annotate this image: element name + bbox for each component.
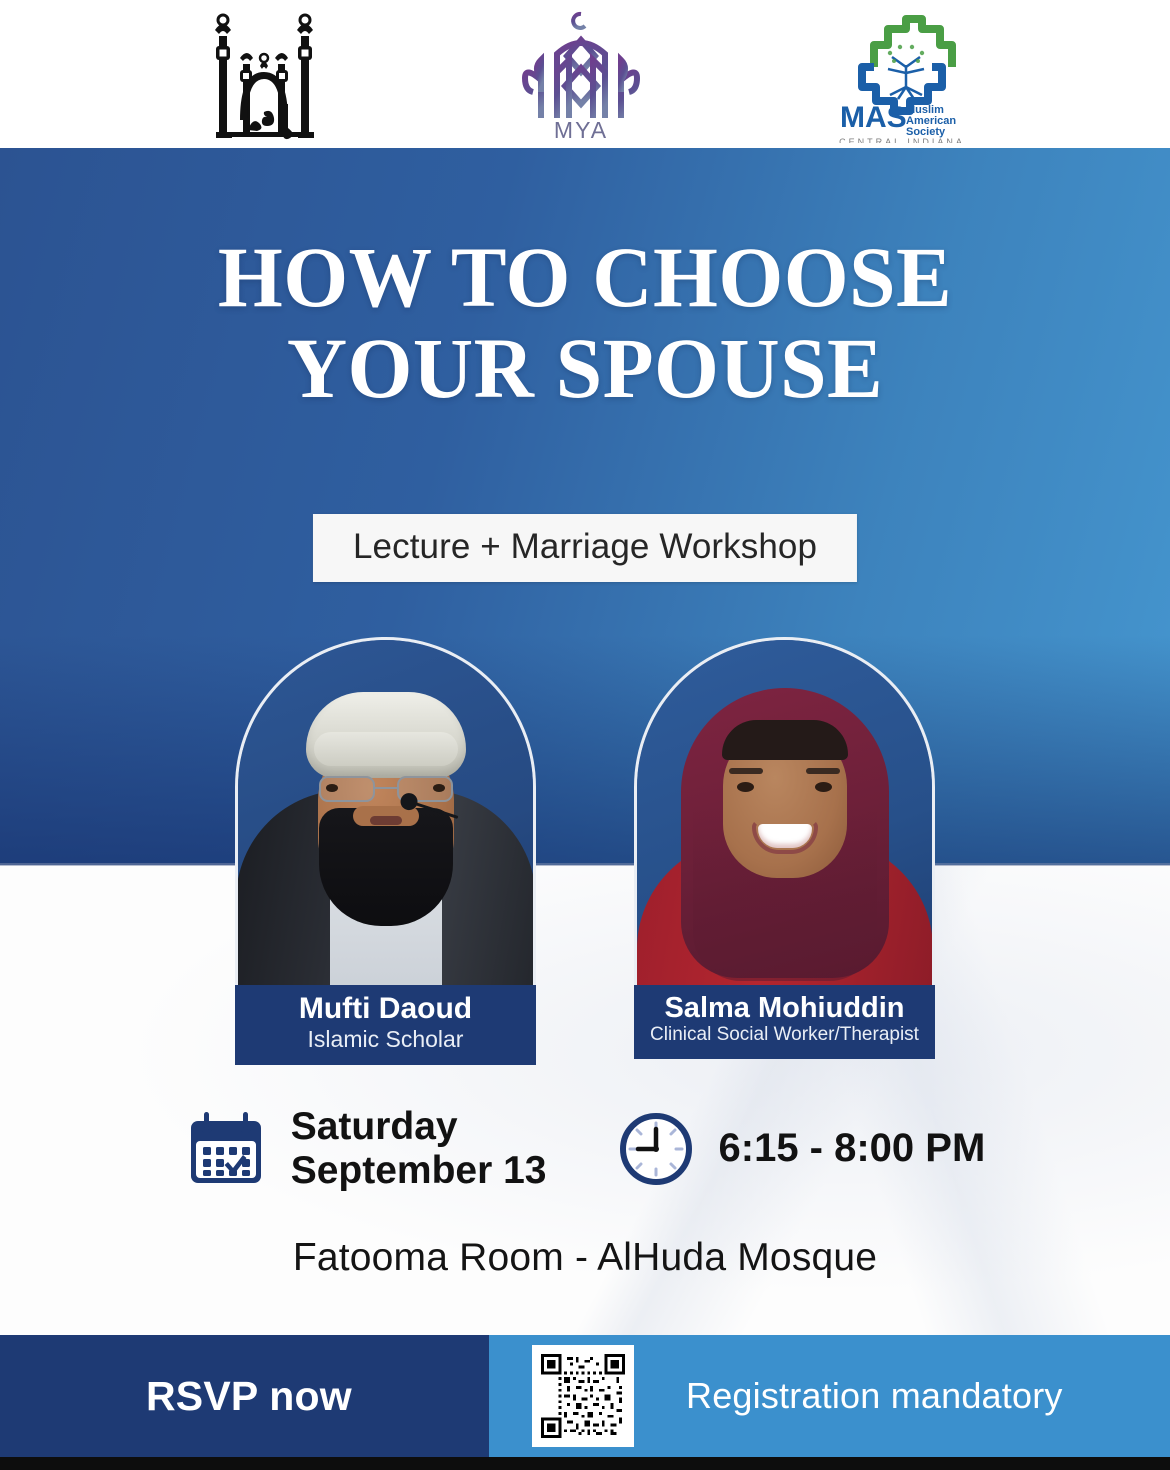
event-poster: MYA [0, 0, 1170, 1470]
event-time: 6:15 - 8:00 PM [719, 1126, 986, 1171]
mas-subtitle: CENTRAL INDIANA [839, 137, 965, 143]
speaker-1-role: Islamic Scholar [241, 1026, 530, 1054]
speakers-section: Mufti Daoud Islamic Scholar [0, 637, 1170, 1065]
speaker-1-name: Mufti Daoud [241, 992, 530, 1026]
title-line-1: HOW TO CHOOSE [18, 232, 1153, 323]
title-line-2: YOUR SPOUSE [18, 323, 1153, 414]
date-item: Saturday September 13 [185, 1105, 547, 1192]
alhuda-mosque-logo-icon [188, 8, 340, 140]
calendar-icon [185, 1108, 267, 1190]
speaker-2-name-plate: Salma Mohiuddin Clinical Social Worker/T… [634, 985, 935, 1059]
speaker-1-photo-frame [235, 637, 536, 985]
time-item: 6:15 - 8:00 PM [617, 1110, 986, 1188]
speaker-2-photo-frame [634, 637, 935, 985]
rsvp-bar: RSVP now [0, 1335, 1170, 1457]
mas-central-indiana-logo: MAS Muslim American Society CENTRAL INDI… [822, 4, 982, 144]
date-time-row: Saturday September 13 [0, 1105, 1170, 1192]
qr-code-icon[interactable] [532, 1345, 634, 1447]
mya-logo-icon: MYA [497, 6, 665, 142]
sponsor-logo-bar: MYA [0, 0, 1170, 148]
rsvp-cta-block[interactable]: RSVP now [0, 1335, 489, 1457]
subtitle-banner: Lecture + Marriage Workshop [313, 514, 857, 582]
speaker-2-name: Salma Mohiuddin [640, 992, 929, 1024]
event-location: Fatooma Room - AlHuda Mosque [0, 1236, 1170, 1280]
mas-logo-icon: MAS Muslim American Society CENTRAL INDI… [822, 5, 982, 143]
registration-note: Registration mandatory [686, 1375, 1063, 1417]
event-details: Saturday September 13 [0, 1105, 1170, 1280]
mya-logo-caption: MYA [554, 117, 608, 142]
mya-logo: MYA [497, 4, 665, 144]
page-title: HOW TO CHOOSE YOUR SPOUSE [0, 232, 1170, 414]
speaker-1-name-plate: Mufti Daoud Islamic Scholar [235, 985, 536, 1065]
qr-code-matrix [541, 1354, 625, 1438]
speaker-card-2: Salma Mohiuddin Clinical Social Worker/T… [634, 637, 935, 1065]
event-date: Saturday September 13 [291, 1105, 547, 1192]
subtitle-text: Lecture + Marriage Workshop [353, 527, 817, 567]
alhuda-mosque-logo [188, 4, 340, 144]
bottom-strip [0, 1457, 1170, 1470]
rsvp-cta-label: RSVP now [146, 1373, 352, 1420]
speaker-2-role: Clinical Social Worker/Therapist [640, 1024, 929, 1047]
clock-icon [617, 1110, 695, 1188]
mas-acronym: MAS [840, 101, 907, 134]
speaker-card-1: Mufti Daoud Islamic Scholar [235, 637, 536, 1065]
speaker-2-portrait [637, 640, 932, 985]
registration-block: Registration mandatory [489, 1335, 1170, 1457]
speaker-1-portrait [238, 640, 533, 985]
